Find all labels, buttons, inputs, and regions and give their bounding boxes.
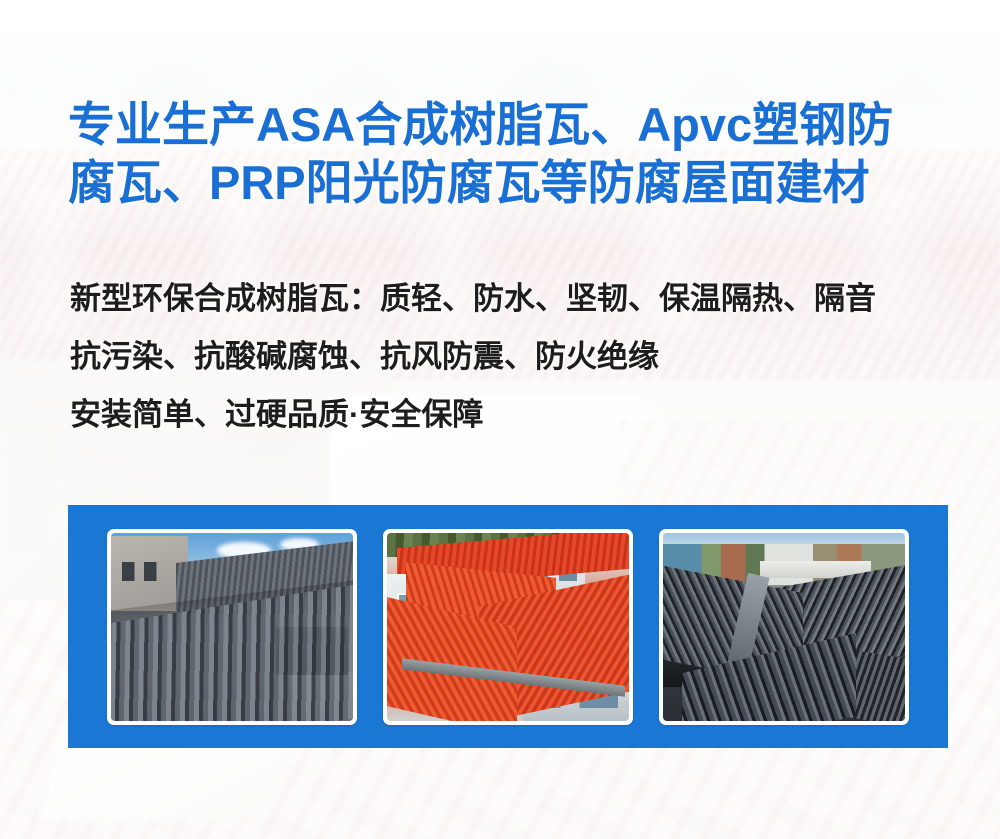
photo-gallery-panel [68, 505, 948, 748]
photo-frame-1[interactable] [107, 529, 357, 725]
subheadline: 新型环保合成树脂瓦：质轻、防水、坚韧、保温隔热、隔音 抗污染、抗酸碱腐蚀、抗风防… [70, 270, 960, 444]
headline-line-2: 腐瓦、PRP阳光防腐瓦等防腐屋面建材 [68, 154, 948, 212]
product-promo-banner: 专业生产ASA合成树脂瓦、Apvc塑钢防 腐瓦、PRP阳光防腐瓦等防腐屋面建材 … [0, 0, 1000, 839]
subheadline-line-1: 新型环保合成树脂瓦：质轻、防水、坚韧、保温隔热、隔音 [70, 270, 960, 328]
photo-red-resin-tile-roof [387, 533, 629, 721]
headline: 专业生产ASA合成树脂瓦、Apvc塑钢防 腐瓦、PRP阳光防腐瓦等防腐屋面建材 [68, 96, 948, 212]
headline-line-1: 专业生产ASA合成树脂瓦、Apvc塑钢防 [68, 96, 948, 154]
photo-frame-3[interactable] [659, 529, 909, 725]
photo-black-resin-tile-roof [663, 533, 905, 721]
photo-grey-resin-tile-roof [111, 533, 353, 721]
subheadline-line-2: 抗污染、抗酸碱腐蚀、抗风防震、防火绝缘 [70, 328, 960, 386]
subheadline-line-3: 安装简单、过硬品质·安全保障 [70, 386, 960, 444]
photo-frame-2[interactable] [383, 529, 633, 725]
